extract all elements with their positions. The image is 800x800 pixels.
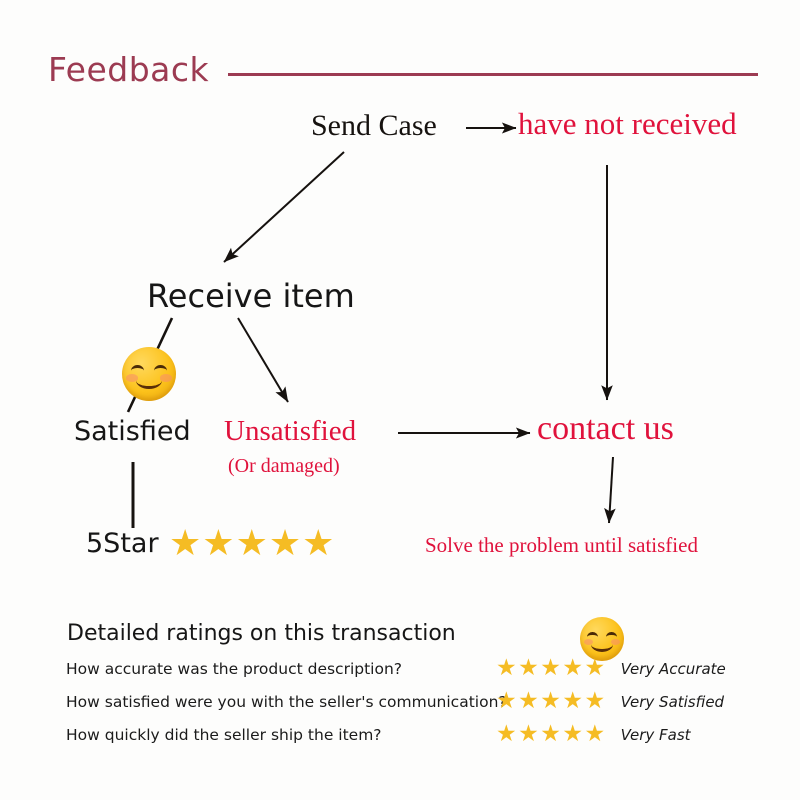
star-icon: ★	[562, 657, 584, 680]
star-icon: ★	[518, 657, 540, 680]
node-solve-the-problem: Solve the problem until satisfied	[425, 533, 698, 558]
star-icon: ★	[496, 723, 518, 746]
rating-question: How satisfied were you with the seller's…	[66, 693, 496, 711]
node-satisfied: Satisfied	[74, 416, 191, 447]
five-star-rating-stars: ★★★★★	[169, 526, 335, 562]
node-5star-label: 5Star	[86, 528, 159, 559]
page-title: Feedback	[48, 50, 209, 89]
rating-row: How accurate was the product description…	[66, 652, 766, 685]
star-icon: ★	[236, 526, 269, 562]
smiling-face-icon	[122, 347, 176, 401]
star-icon: ★	[496, 657, 518, 680]
node-or-damaged: (Or damaged)	[228, 455, 340, 478]
detailed-ratings-heading: Detailed ratings on this transaction	[67, 621, 456, 646]
star-icon: ★	[302, 526, 335, 562]
star-icon: ★	[585, 723, 607, 746]
rating-label: Very Fast	[621, 726, 691, 744]
star-icon: ★	[540, 657, 562, 680]
rating-row: How quickly did the seller ship the item…	[66, 718, 766, 751]
rating-label: Very Satisfied	[621, 693, 724, 711]
star-icon: ★	[585, 690, 607, 713]
arrow-send-case-to-receive-item	[224, 152, 344, 262]
star-icon: ★	[269, 526, 302, 562]
rating-stars: ★★★★★	[496, 723, 607, 746]
rating-question: How accurate was the product description…	[66, 660, 496, 678]
star-icon: ★	[518, 690, 540, 713]
rating-label: Very Accurate	[621, 660, 726, 678]
star-icon: ★	[585, 657, 607, 680]
star-icon: ★	[540, 690, 562, 713]
star-icon: ★	[496, 690, 518, 713]
arrow-contact-us-to-solve	[609, 457, 613, 523]
feedback-infographic: Feedback Send Case have not received Rec…	[0, 0, 800, 800]
rating-stars: ★★★★★	[496, 690, 607, 713]
node-have-not-received: have not received	[518, 106, 737, 142]
rating-row: How satisfied were you with the seller's…	[66, 685, 766, 718]
rating-question: How quickly did the seller ship the item…	[66, 726, 496, 744]
node-receive-item: Receive item	[147, 277, 355, 315]
star-icon: ★	[540, 723, 562, 746]
header-divider	[228, 73, 758, 76]
star-icon: ★	[202, 526, 235, 562]
node-unsatisfied: Unsatisfied	[224, 415, 356, 448]
star-icon: ★	[562, 723, 584, 746]
detailed-ratings-list: How accurate was the product description…	[66, 652, 766, 751]
node-send-case: Send Case	[311, 109, 437, 143]
arrow-receive-item-to-unsatisfied	[238, 318, 288, 402]
rating-stars: ★★★★★	[496, 657, 607, 680]
star-icon: ★	[169, 526, 202, 562]
star-icon: ★	[518, 723, 540, 746]
node-contact-us: contact us	[537, 410, 674, 448]
star-icon: ★	[562, 690, 584, 713]
